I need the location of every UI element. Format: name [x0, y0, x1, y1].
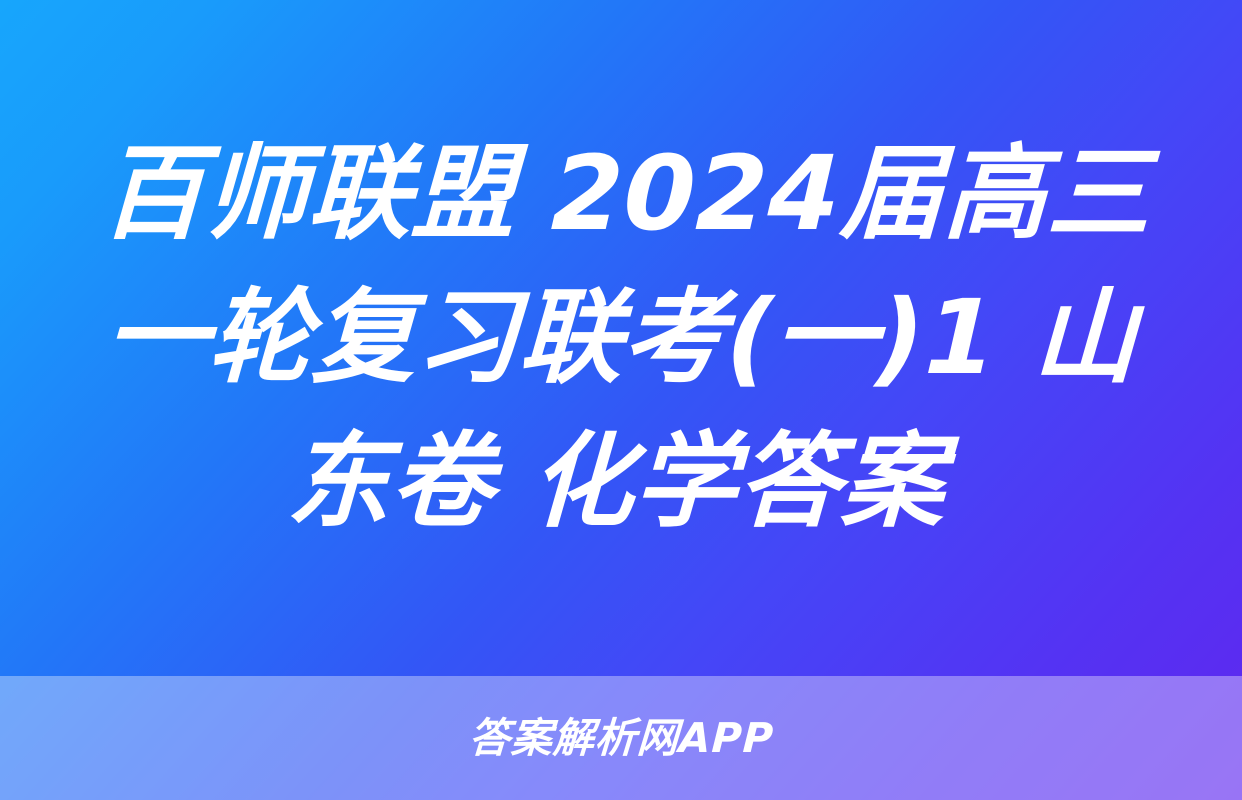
- app-watermark-label: 答案解析网APP: [468, 718, 775, 759]
- page-title: 百师联盟 2024届高三一轮复习联考(一)1 山东卷 化学答案: [54, 122, 1187, 555]
- title-block: 百师联盟 2024届高三一轮复习联考(一)1 山东卷 化学答案: [0, 0, 1242, 676]
- watermark-band: 答案解析网APP: [0, 676, 1242, 800]
- poster-canvas: 百师联盟 2024届高三一轮复习联考(一)1 山东卷 化学答案 答案解析网APP: [0, 0, 1242, 800]
